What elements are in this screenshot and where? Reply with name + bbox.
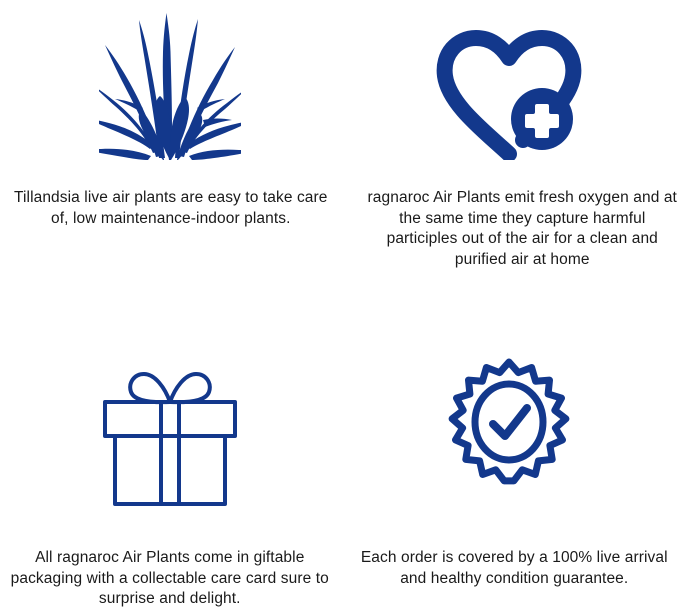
heart-plus-icon xyxy=(433,30,585,160)
feature-cell-air-plant: Tillandsia live air plants are easy to t… xyxy=(0,0,340,308)
bow-loop-left xyxy=(130,374,170,402)
feature-grid: Tillandsia live air plants are easy to t… xyxy=(0,0,679,616)
feature-caption: All ragnaroc Air Plants come in giftable… xyxy=(0,508,340,610)
gift-box-icon xyxy=(95,356,245,508)
air-plant-icon xyxy=(99,10,241,160)
gift-box-icon-wrapper xyxy=(0,308,340,508)
feature-cell-air-purification: ragnaroc Air Plants emit fresh oxygen an… xyxy=(340,0,679,308)
check-icon xyxy=(493,408,527,436)
gift-body xyxy=(115,436,225,504)
feature-caption: Tillandsia live air plants are easy to t… xyxy=(0,160,340,229)
bow-loop-right xyxy=(170,374,210,402)
feature-grid-panel: Tillandsia live air plants are easy to t… xyxy=(0,0,679,616)
guarantee-badge-icon xyxy=(439,356,579,508)
guarantee-badge-icon-wrapper xyxy=(340,308,679,508)
feature-caption: Each order is covered by a 100% live arr… xyxy=(340,508,679,589)
feature-cell-giftable-packaging: All ragnaroc Air Plants come in giftable… xyxy=(0,308,340,616)
badge-inner-circle xyxy=(475,384,543,460)
heart-plus-icon-wrapper xyxy=(340,0,679,160)
feature-caption: ragnaroc Air Plants emit fresh oxygen an… xyxy=(340,160,679,270)
air-plant-icon-wrapper xyxy=(0,0,340,160)
feature-cell-live-arrival-guarantee: Each order is covered by a 100% live arr… xyxy=(340,308,679,616)
gift-lid xyxy=(105,402,235,436)
